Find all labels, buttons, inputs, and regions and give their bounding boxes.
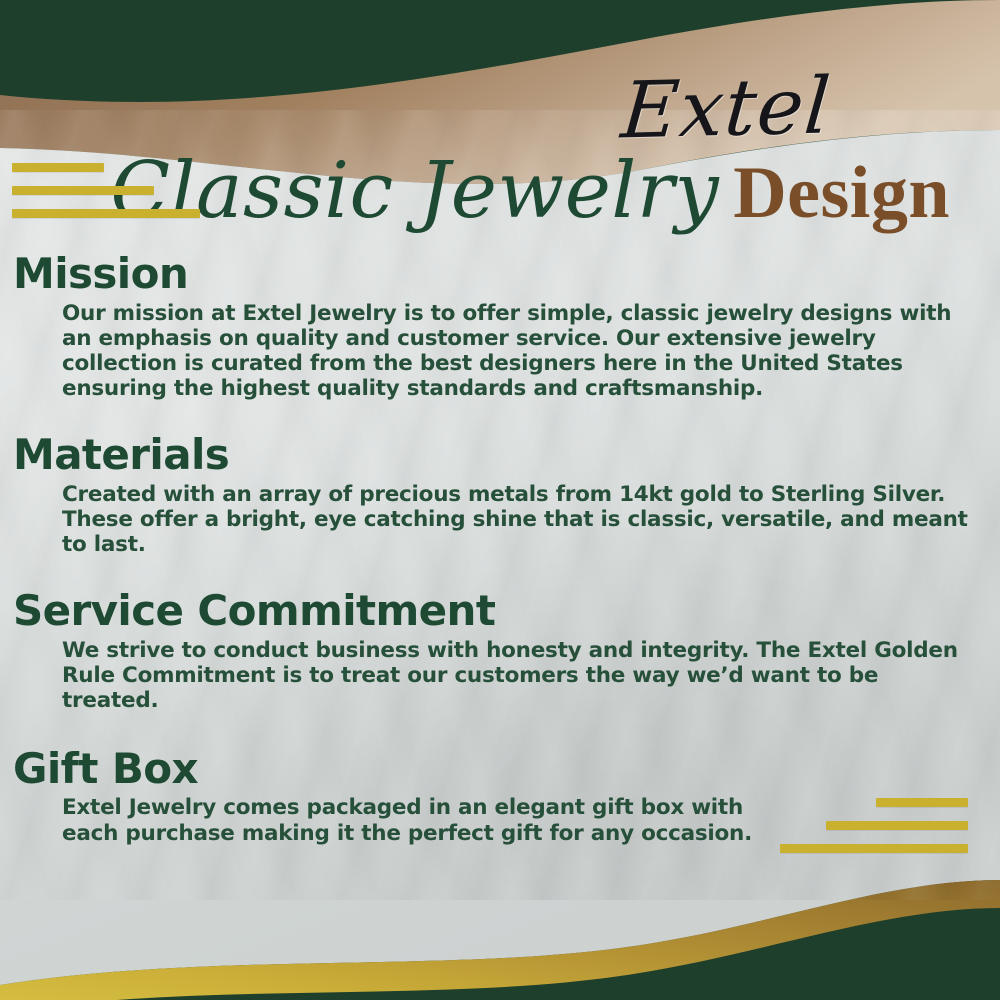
section-body-service-commitment: We strive to conduct business with hones… [62,638,977,713]
section-body-mission: Our mission at Extel Jewelry is to offer… [62,301,977,402]
content-sections: Mission Our mission at Extel Jewelry is … [0,252,1000,846]
gold-accent-lines-top-left [12,163,200,218]
title-block: Extel Classic JewelryDesign [0,60,1000,250]
section-heading-service-commitment: Service Commitment [13,589,1000,634]
section-service-commitment: Service Commitment We strive to conduct … [0,589,1000,713]
section-heading-gift-box: Gift Box [13,747,1000,792]
headline-secondary: Design [733,152,950,234]
section-gift-box: Gift Box Extel Jewelry comes packaged in… [0,747,1000,846]
section-mission: Mission Our mission at Extel Jewelry is … [0,252,1000,401]
gold-line [12,209,200,218]
section-heading-mission: Mission [13,252,1000,297]
section-materials: Materials Created with an array of preci… [0,433,1000,557]
poster-canvas: Extel Classic JewelryDesign Mission Our … [0,0,1000,1000]
section-body-gift-box: Extel Jewelry comes packaged in an elega… [62,795,762,845]
section-body-materials: Created with an array of precious metals… [62,482,977,557]
headline-primary: Classic Jewelry [110,146,719,236]
brand-script-logo: Extel [618,67,833,150]
gold-line [12,186,154,195]
section-heading-materials: Materials [13,433,1000,478]
gold-line [12,163,104,172]
